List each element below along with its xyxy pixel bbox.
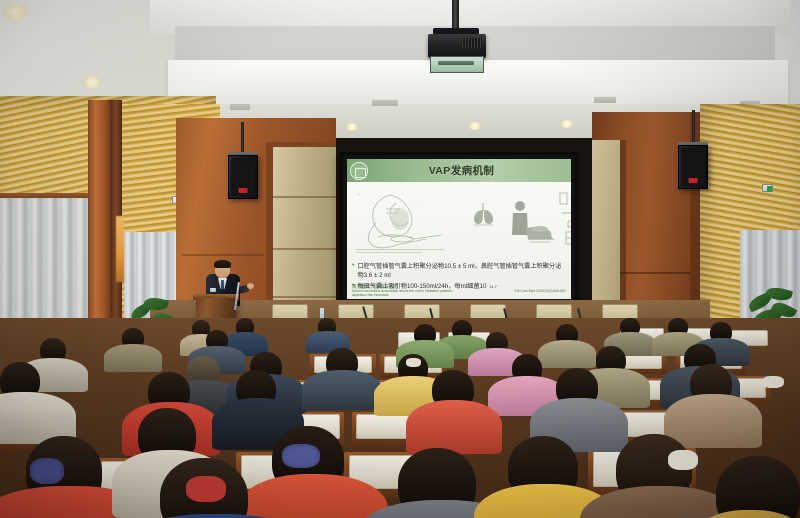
slide-title-bar: VAP发病机制 xyxy=(347,159,571,182)
ceiling-vent xyxy=(594,96,616,103)
hair-bow xyxy=(282,444,320,468)
audience-person-shoulders xyxy=(538,340,596,368)
slide-title: VAP发病机制 xyxy=(368,163,571,178)
projection-screen: VAP发病机制 xyxy=(340,152,578,306)
slide-figure-group: ab xyxy=(352,185,566,259)
svg-text:b: b xyxy=(418,198,420,202)
audience-person-shoulders xyxy=(104,344,162,372)
presenter-hand xyxy=(247,283,254,289)
audience-person-shoulders xyxy=(302,370,382,410)
slide-footer-left: Sputum secretions accumulate above the c… xyxy=(352,289,463,297)
audience-person-head xyxy=(716,456,800,518)
airway-anatomy-diagram-icon: ab xyxy=(356,189,452,255)
jbl-logo-icon xyxy=(689,178,698,183)
institution-emblem-icon xyxy=(350,162,368,180)
downlight xyxy=(2,4,28,20)
equipment-diagram-icon xyxy=(558,191,571,247)
hair-bow xyxy=(186,476,226,502)
exit-sign-icon xyxy=(762,184,773,192)
speaker-pole-right xyxy=(692,110,695,144)
bullet-dot-icon: • xyxy=(352,262,354,280)
downlight xyxy=(468,122,482,130)
presenter-tie xyxy=(221,280,224,289)
panel-seam xyxy=(620,272,690,274)
presentation-slide: VAP发病机制 xyxy=(347,159,571,299)
speaker-pole-left xyxy=(241,122,244,154)
ceiling-vent xyxy=(230,103,250,110)
slide-body: ab xyxy=(347,182,571,299)
panel-seam xyxy=(182,254,264,256)
right-ceiling-speaker xyxy=(678,145,708,189)
presenter-badge xyxy=(210,288,216,292)
pillar-left-outer xyxy=(88,100,110,325)
downlight xyxy=(560,120,574,128)
hair-bow xyxy=(406,358,421,367)
svg-text:a: a xyxy=(358,193,360,196)
audience-person-shoulders xyxy=(406,400,502,454)
slide-footer-right: Crit Care Med 2005;33(3):546-551 xyxy=(480,289,566,297)
panel-seam xyxy=(272,296,336,298)
projector-lens xyxy=(438,61,474,65)
lecture-hall-scene: VAP发病机制 xyxy=(0,0,800,518)
downlight xyxy=(345,123,359,131)
list-item: • 口腔气管插管气囊上积聚分泌物10.5 ± 5 ml，鼻腔气管插管气囊上积聚分… xyxy=(352,262,567,280)
wall-right-door[interactable] xyxy=(592,140,626,324)
patient-bedside-diagram-icon xyxy=(504,199,556,245)
hair-bow xyxy=(668,450,698,470)
presenter-hair xyxy=(214,260,231,268)
projector-vent-icon xyxy=(462,38,482,48)
lungs-diagram-icon xyxy=(470,201,498,227)
hair-bow xyxy=(30,458,64,484)
pillar-light-strip xyxy=(116,216,124,282)
bullet-text: 口腔气管插管气囊上积聚分泌物10.5 ± 5 ml，鼻腔气管插管气囊上积聚分泌物… xyxy=(357,262,567,280)
pillar-left-inner xyxy=(110,100,122,328)
downlight xyxy=(82,76,102,89)
panel-seam xyxy=(272,196,336,198)
audience-area xyxy=(0,318,800,518)
left-ceiling-speaker xyxy=(228,155,258,199)
slide-footer: Sputum secretions accumulate above the c… xyxy=(352,289,566,297)
audience-person-shoulders xyxy=(664,394,762,448)
projector-mount-pole xyxy=(452,0,459,30)
panel-seam xyxy=(272,248,336,250)
hair-bow xyxy=(762,376,784,388)
ceiling-vent xyxy=(372,99,398,106)
jbl-logo-icon xyxy=(239,188,248,193)
